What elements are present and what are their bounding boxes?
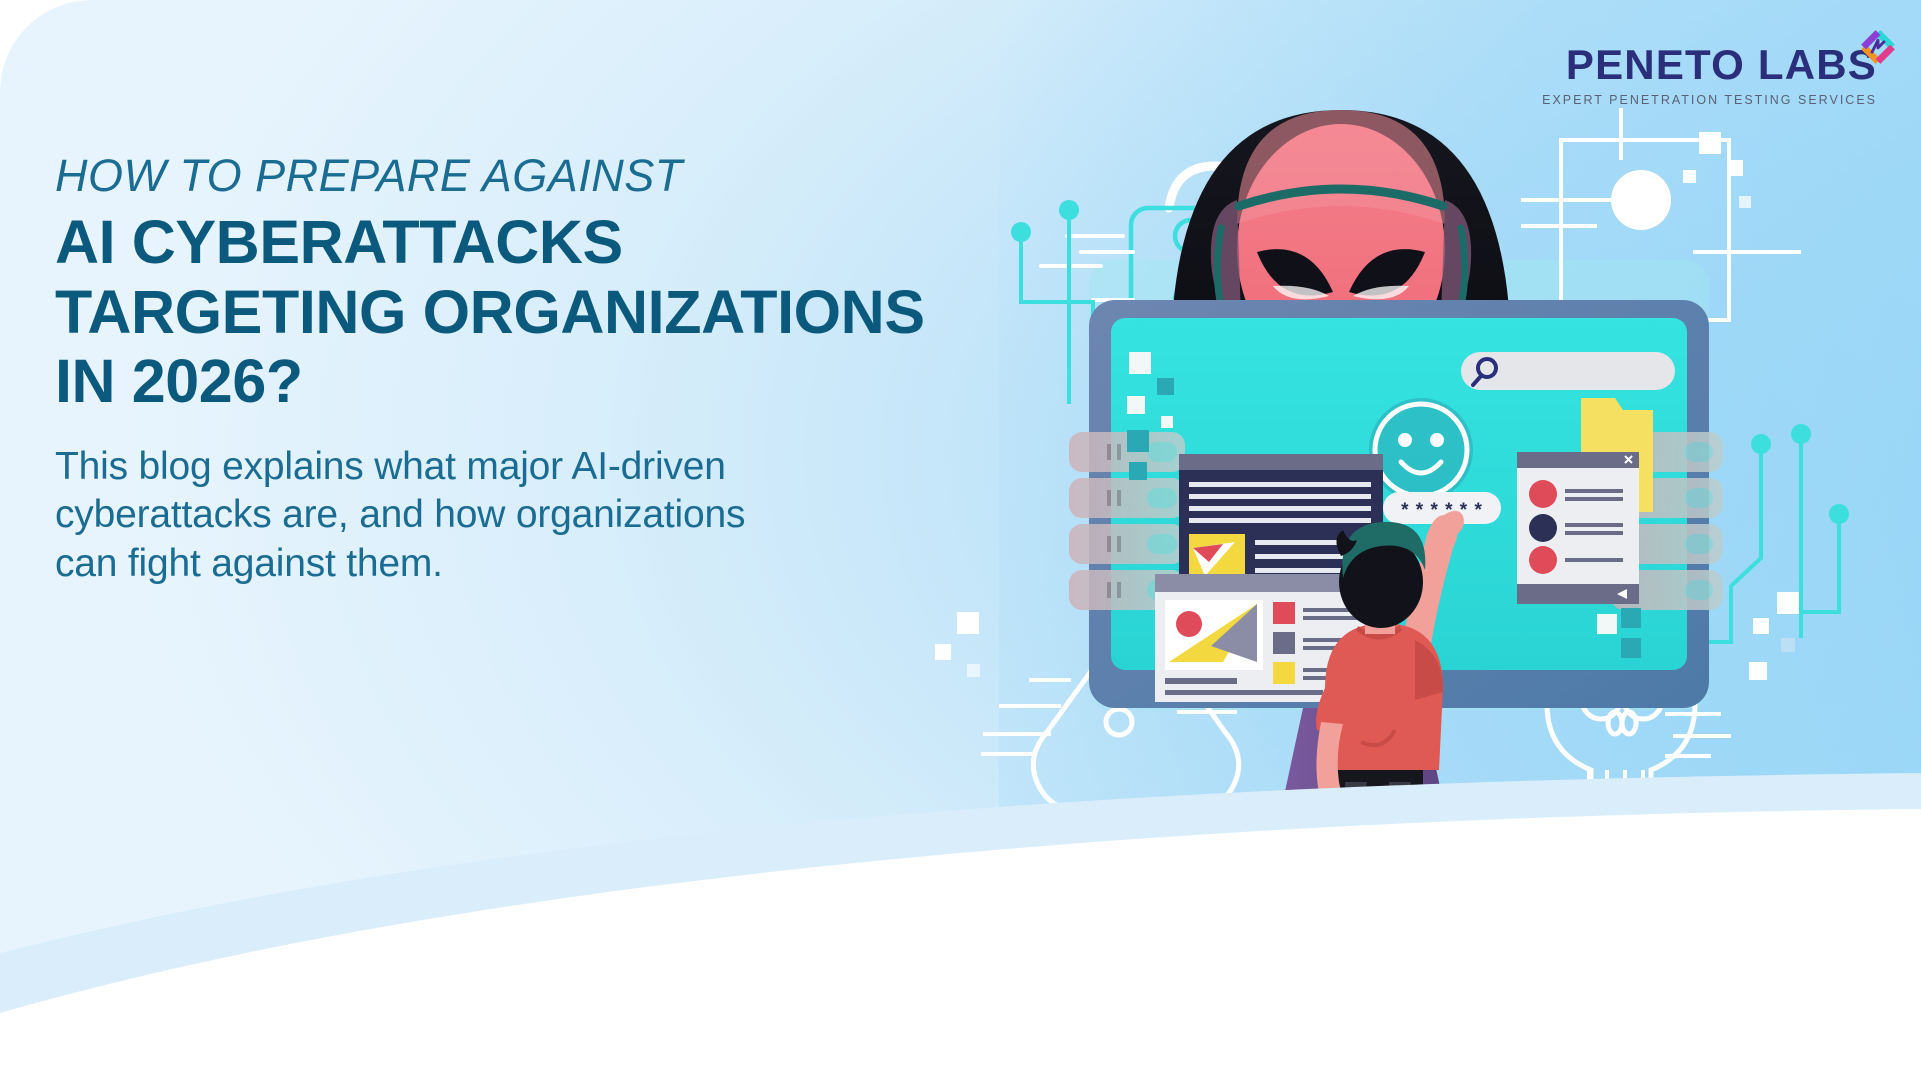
headline-line-2: TARGETING ORGANIZATIONS bbox=[55, 278, 985, 348]
list-window bbox=[1517, 452, 1639, 604]
brand-logo[interactable]: PENETO LABS EXPERT PENETRATION TESTING S… bbox=[1542, 44, 1877, 107]
headline-line-3: IN 2026? bbox=[55, 347, 985, 417]
logo-tagline: EXPERT PENETRATION TESTING SERVICES bbox=[1542, 93, 1877, 107]
subtext-line-1: This blog explains what major AI-driven bbox=[55, 443, 985, 491]
eyebrow-text: HOW TO PREPARE AGAINST bbox=[55, 150, 985, 202]
page-title: AI CYBERATTACKS TARGETING ORGANIZATIONS … bbox=[55, 208, 985, 417]
headline-line-1: AI CYBERATTACKS bbox=[55, 208, 985, 278]
peneto-diamond-arrow-mark bbox=[1861, 30, 1895, 64]
smiley-face-icon bbox=[1369, 398, 1473, 502]
subtext-block: This blog explains what major AI-driven … bbox=[55, 443, 985, 588]
subtext-line-2: cyberattacks are, and how organizations bbox=[55, 491, 985, 539]
blog-banner: * * * * * * bbox=[0, 0, 1921, 1081]
logo-wordmark: PENETO LABS bbox=[1542, 44, 1877, 86]
subtext-line-3: can fight against them. bbox=[55, 540, 985, 588]
search-bar[interactable] bbox=[1461, 352, 1675, 390]
illustration-ai-cyberattack: * * * * * * bbox=[921, 0, 1921, 1000]
headline-block: HOW TO PREPARE AGAINST AI CYBERATTACKS T… bbox=[55, 150, 985, 588]
